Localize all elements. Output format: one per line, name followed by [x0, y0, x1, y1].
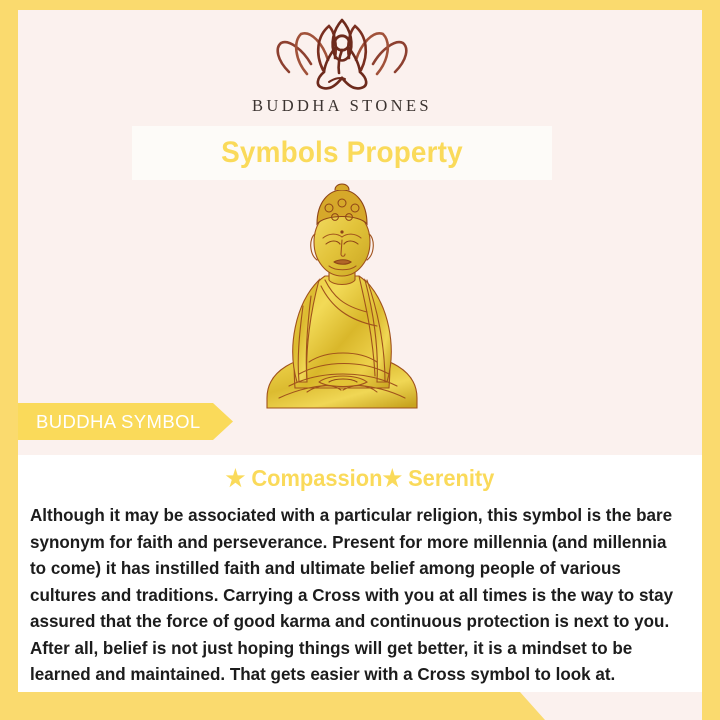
- page-title: Symbols Property: [221, 136, 463, 170]
- title-banner: Symbols Property: [132, 126, 552, 180]
- frame-band-right: [702, 0, 720, 720]
- golden-buddha-statue: [247, 176, 437, 412]
- brand-logo-block: BUDDHA STONES: [0, 12, 684, 116]
- buddha-symbol-tag-label: BUDDHA SYMBOL: [36, 411, 201, 433]
- frame-band-left: [0, 0, 18, 720]
- content-card: ★ Compassion★ Serenity Although it may b…: [18, 455, 702, 692]
- buddha-symbol-tag: BUDDHA SYMBOL: [0, 403, 233, 440]
- frame-band-bottom: [0, 692, 545, 720]
- hero-buddha-figure: [0, 176, 684, 412]
- body-paragraph: Although it may be associated with a par…: [30, 502, 677, 688]
- frame-band-top: [0, 0, 720, 10]
- brand-wordmark: BUDDHA STONES: [0, 96, 684, 116]
- lotus-meditation-icon: [267, 12, 417, 92]
- virtues-heading: ★ Compassion★ Serenity: [35, 465, 685, 492]
